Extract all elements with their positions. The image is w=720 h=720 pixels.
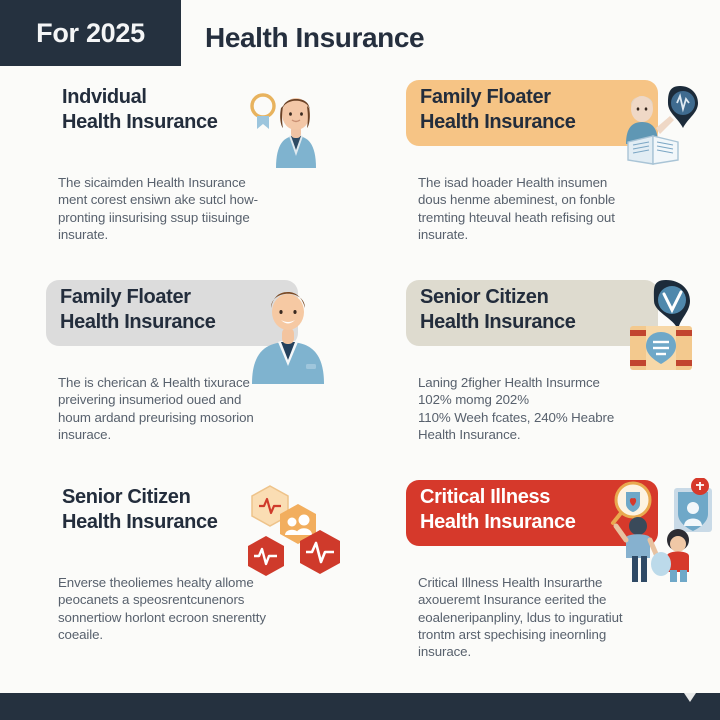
year-tag-label: For 2025: [36, 18, 145, 49]
insurance-card[interactable]: Family Floater Health Insurance The is: [0, 278, 360, 478]
page-title: Health Insurance: [205, 22, 424, 54]
certificate-and-shield-badges: [608, 278, 700, 378]
card-body-text: The sicaimden Health Insurance ment core…: [58, 174, 320, 243]
shield-check-pin-icon: [654, 280, 690, 332]
card-title: Indvidual Health Insurance: [46, 79, 228, 141]
card-body-text: Enverse theoliemes healty allome peocane…: [58, 574, 320, 643]
insurance-card[interactable]: Critical Illness Health Insurance: [360, 478, 720, 678]
card-body-text: Laning 2figher Health Insurmce 102% momg…: [418, 374, 680, 443]
adult-figure-avatar: [616, 517, 656, 582]
card-body-text: The isad hoader Health insumen dous henm…: [418, 174, 680, 243]
male-doctor-illustration: [240, 280, 336, 390]
page-header: For 2025 Health Insurance: [0, 0, 720, 70]
male-doctor-avatar: [252, 292, 324, 384]
open-book-icon: [628, 136, 678, 164]
year-tag-badge: For 2025: [0, 0, 181, 66]
award-ribbon-icon: [252, 95, 274, 129]
card-title: Senior Citizen Health Insurance: [46, 479, 228, 541]
heart-shield-magnifier-icon: [613, 483, 650, 523]
card-title: Critical Illness Health Insurance: [406, 479, 586, 541]
insurance-card[interactable]: Senior Citizen Health Insurance: [0, 478, 360, 678]
family-shield-card-icon: [674, 478, 712, 532]
insurance-card-grid: Indvidual Health Insurance: [0, 78, 720, 673]
person-reading-book-illustration: [608, 82, 700, 168]
heartbeat-hexagon-icon: [248, 536, 284, 576]
family-protection-illustration: [596, 478, 714, 584]
insurance-card[interactable]: Senior Citizen Health Insurance: [360, 278, 720, 478]
female-advisor-avatar: [276, 98, 316, 168]
insurance-card[interactable]: Indvidual Health Insurance: [0, 78, 360, 278]
down-triangle-icon: [684, 693, 696, 702]
woman-advisor-illustration: [248, 86, 320, 172]
child-figure-avatar: [651, 529, 689, 582]
page-footer: [0, 693, 720, 720]
card-body-text: Critical Illness Health Insurarthe axoue…: [418, 574, 680, 660]
card-title: Family Floater Health Insurance: [46, 279, 226, 341]
certificate-seal-icon: [630, 326, 692, 370]
dark-circle-badge-icon: [668, 86, 698, 128]
insurance-card[interactable]: Family Floater Health Insurance: [360, 78, 720, 278]
hexagon-health-cluster: [240, 482, 348, 582]
card-title: Family Floater Health Insurance: [406, 79, 586, 141]
card-title: Senior Citizen Health Insurance: [406, 279, 586, 341]
